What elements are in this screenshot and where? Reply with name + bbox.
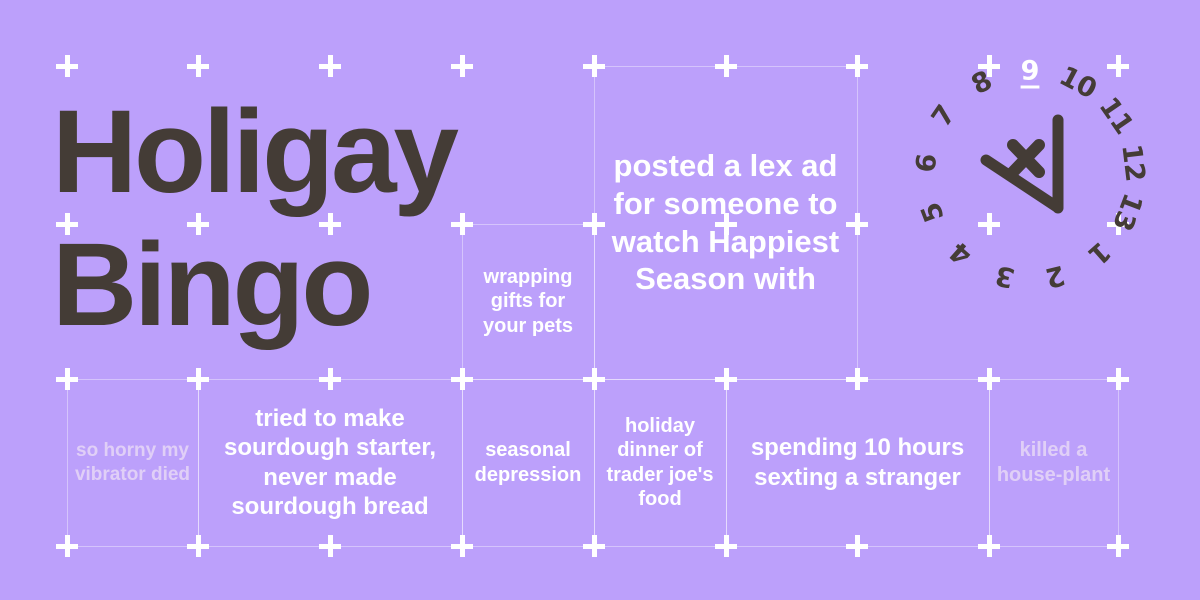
poster-canvas: Holigay Bingo wrapping gifts for your pe… (0, 0, 1200, 600)
bingo-cell-label: wrapping gifts for your pets (468, 265, 588, 338)
clock-number-label: 12 (1116, 142, 1151, 183)
plus-mark-icon (187, 55, 209, 77)
plus-mark-icon (319, 55, 341, 77)
bingo-cell-label: holiday dinner of trader joe's food (600, 414, 720, 512)
bingo-cell-lex-ad[interactable]: posted a lex ad for someone to watch Hap… (594, 66, 857, 379)
bingo-cell-label: spending 10 hours sexting a stranger (732, 433, 983, 492)
bingo-cell-label: seasonal depression (468, 438, 588, 487)
clock-graphic: 91011121312345678 (905, 50, 1155, 300)
bingo-cell-houseplant[interactable]: killed a house-plant (989, 379, 1118, 546)
title-line-1: Holigay (52, 86, 532, 219)
bingo-cell-vibrator-died[interactable]: so horny my vibrator died (67, 379, 198, 546)
title-line-2: Bingo (52, 219, 532, 352)
grid-line (1118, 379, 1119, 546)
bingo-cell-sexting[interactable]: spending 10 hours sexting a stranger (726, 379, 989, 546)
bingo-cell-label: killed a house-plant (995, 438, 1112, 487)
clock-number-label: 6 (910, 151, 943, 173)
bingo-cell-label: posted a lex ad for someone to watch Hap… (600, 147, 851, 298)
grid-line (67, 546, 198, 547)
clock-number-label: 9 (1021, 56, 1040, 87)
page-title: Holigay Bingo (52, 86, 532, 353)
clock-hands (905, 50, 1155, 300)
bingo-cell-seasonal-depression[interactable]: seasonal depression (462, 379, 594, 546)
bingo-cell-wrapping-gifts[interactable]: wrapping gifts for your pets (462, 224, 594, 379)
bingo-cell-label: so horny my vibrator died (73, 439, 192, 485)
plus-mark-icon (56, 55, 78, 77)
grid-line (594, 546, 726, 547)
bingo-cell-sourdough[interactable]: tried to make sourdough starter, never m… (198, 379, 462, 546)
bingo-cell-label: tried to make sourdough starter, never m… (204, 404, 456, 521)
plus-mark-icon (451, 55, 473, 77)
bingo-cell-trader-joes[interactable]: holiday dinner of trader joe's food (594, 379, 726, 546)
grid-line (462, 546, 594, 547)
grid-line (989, 546, 1118, 547)
